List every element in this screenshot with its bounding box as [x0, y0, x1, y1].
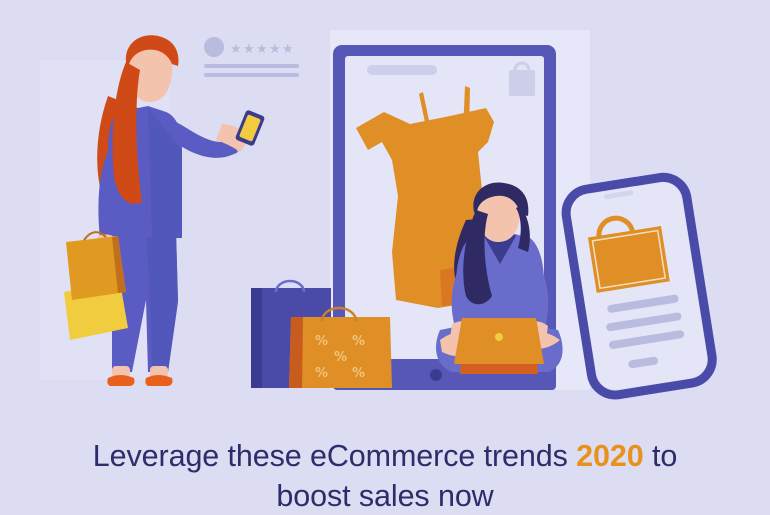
laptop[interactable] — [454, 318, 544, 364]
percent-symbol: % — [315, 366, 328, 381]
percent-symbol: % — [352, 366, 365, 381]
headline-part-2: to — [644, 439, 678, 473]
hero-illustration: ★ ★ ★ ★ ★ — [0, 0, 770, 410]
star-icon: ★ — [282, 42, 294, 57]
star-rating: ★ ★ ★ ★ ★ — [230, 42, 294, 57]
laptop-logo — [495, 333, 503, 341]
page-title: Leverage these eCommerce trends 2020 tob… — [93, 436, 677, 515]
headline-part-1: Leverage these eCommerce trends — [93, 439, 576, 473]
headline-year: 2020 — [576, 439, 643, 473]
tablet-header-bar — [367, 65, 437, 75]
review-text-line — [204, 73, 299, 77]
phone-device[interactable] — [563, 174, 716, 399]
percent-symbol: % — [315, 334, 328, 349]
carried-shopping-bags — [64, 232, 128, 340]
star-icon: ★ — [256, 42, 268, 57]
percent-symbol: % — [334, 350, 347, 365]
avatar — [204, 37, 224, 57]
headline-block: Leverage these eCommerce trends 2020 tob… — [0, 408, 770, 515]
star-icon: ★ — [269, 42, 281, 57]
shopping-bag-orange-discount: % % % % % — [289, 308, 392, 388]
percent-symbol: % — [352, 334, 365, 349]
tablet-home-button[interactable] — [430, 369, 442, 381]
promo-banner: ★ ★ ★ ★ ★ — [0, 0, 770, 515]
review-text-line — [204, 64, 299, 68]
star-icon: ★ — [230, 42, 242, 57]
headline-line-2: boost sales now — [276, 479, 493, 513]
star-icon: ★ — [243, 42, 255, 57]
